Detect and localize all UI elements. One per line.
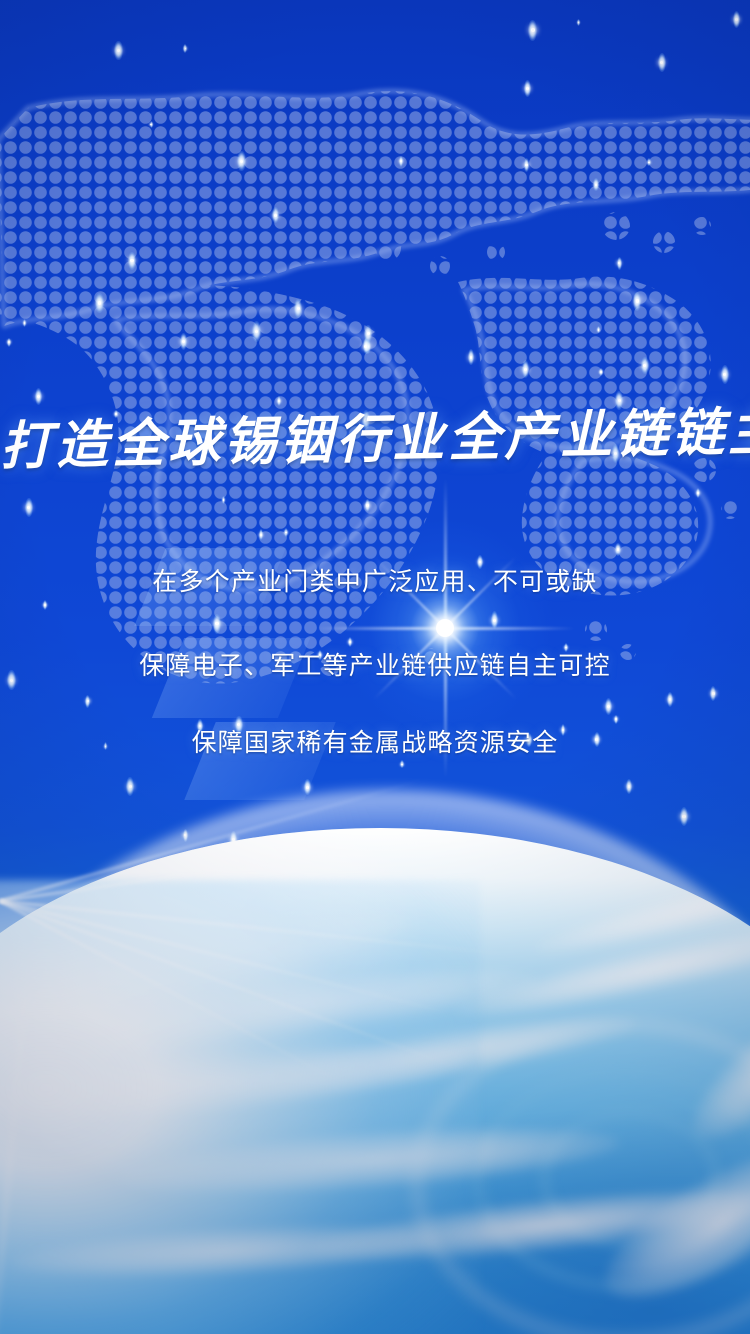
sparkle-core [607, 705, 610, 708]
poster-subtitle-3: 保障国家稀有金属战略资源安全 [0, 723, 750, 759]
sparkle-icon [626, 779, 632, 794]
sparkle-core [525, 164, 527, 166]
sparkle-icon [363, 338, 370, 354]
sparkle-icon [468, 349, 475, 365]
sparkle-icon [605, 698, 612, 715]
sparkle-icon [222, 496, 225, 503]
sparkle-core [37, 395, 40, 398]
poster-title: 打造全球锡铟行业全产业链链主 [0, 407, 750, 473]
sparkle-core [712, 692, 715, 695]
sparkle-core [618, 399, 621, 402]
sparkle-icon [633, 292, 641, 311]
sparkle-icon [617, 257, 622, 270]
sparkle-core [600, 371, 601, 372]
sparkle-icon [733, 11, 740, 28]
sparkle-core [636, 299, 639, 302]
sparkle-icon [35, 388, 42, 405]
sparkle-icon [85, 695, 90, 708]
sparkle-icon [399, 156, 403, 167]
sparkle-core [260, 534, 262, 536]
sparkle-icon [680, 807, 688, 826]
sparkle-icon [599, 368, 602, 376]
sparkle-core [349, 641, 351, 643]
sparkle-icon [284, 528, 288, 537]
sparkle-icon [710, 686, 716, 701]
sparkle-core [697, 492, 699, 494]
sparkle-icon [528, 20, 537, 41]
sparkle-icon [577, 19, 580, 26]
sparkle-icon [522, 360, 529, 378]
sparkle-icon [365, 499, 371, 513]
poster-subtitle-2: 保障电子、军工等产业链供应链自主可控 [0, 646, 750, 682]
sparkle-icon [128, 252, 136, 270]
sparkle-icon [259, 529, 264, 540]
sparkle-icon [647, 158, 650, 166]
sparkle-core [524, 368, 527, 371]
sparkle-core [669, 698, 672, 701]
sparkle-core [223, 499, 224, 500]
sparkle-icon [150, 121, 153, 128]
sparkle-icon [237, 151, 245, 171]
sparkle-core [364, 345, 367, 348]
sparkle-icon [615, 543, 621, 557]
sparkle-icon [252, 321, 261, 342]
sparkle-icon [597, 326, 600, 333]
sparkle-icon [7, 338, 11, 347]
sparkle-icon [491, 611, 498, 628]
sparkle-core [531, 28, 535, 32]
sparkle-icon [272, 207, 279, 223]
sun-streaks [0, 760, 500, 1190]
sparkle-icon [658, 53, 666, 72]
sparkle-icon [641, 357, 648, 374]
sparkle-core [628, 785, 631, 788]
sparkle-core [648, 162, 649, 163]
sparkle-icon [593, 178, 598, 191]
sparkle-icon [213, 614, 221, 634]
sparkle-icon [43, 600, 47, 609]
sparkle-core [8, 341, 10, 343]
sparkle-icon [667, 692, 673, 707]
sparkle-icon [95, 293, 103, 312]
sparkle-icon [524, 80, 531, 97]
sparkle-icon [277, 396, 281, 406]
sparkle-core [44, 604, 46, 606]
sparkle-icon [294, 299, 302, 318]
sparkle-core [285, 532, 287, 534]
sparkle-icon [524, 158, 530, 172]
flare-ray-horizontal [315, 627, 575, 630]
sparkle-core [617, 548, 619, 550]
sparkle-core [98, 301, 101, 304]
sparkle-core [278, 400, 280, 402]
sparkle-core [274, 214, 277, 217]
sparkle-icon [183, 44, 187, 53]
sparkle-icon [721, 365, 729, 384]
sparkle-icon [25, 498, 33, 517]
sparkle-icon [696, 488, 700, 498]
sparkle-core [493, 619, 496, 622]
sparkle-core [615, 718, 617, 720]
sparkle-icon [23, 319, 26, 327]
sparkle-core [130, 259, 133, 262]
sparkle-icon [180, 333, 187, 350]
sparkle-icon [114, 41, 122, 61]
poster-canvas: 打造全球锡铟行业全产业链链主 在多个产业门类中广泛应用、不可或缺 保障电子、军工… [0, 0, 750, 1334]
poster-subtitle-1: 在多个产业门类中广泛应用、不可或缺 [0, 562, 750, 598]
sparkle-core [682, 815, 685, 818]
sparkle-core [526, 87, 529, 90]
sparkle-core [595, 184, 597, 186]
sparkle-core [366, 504, 368, 506]
